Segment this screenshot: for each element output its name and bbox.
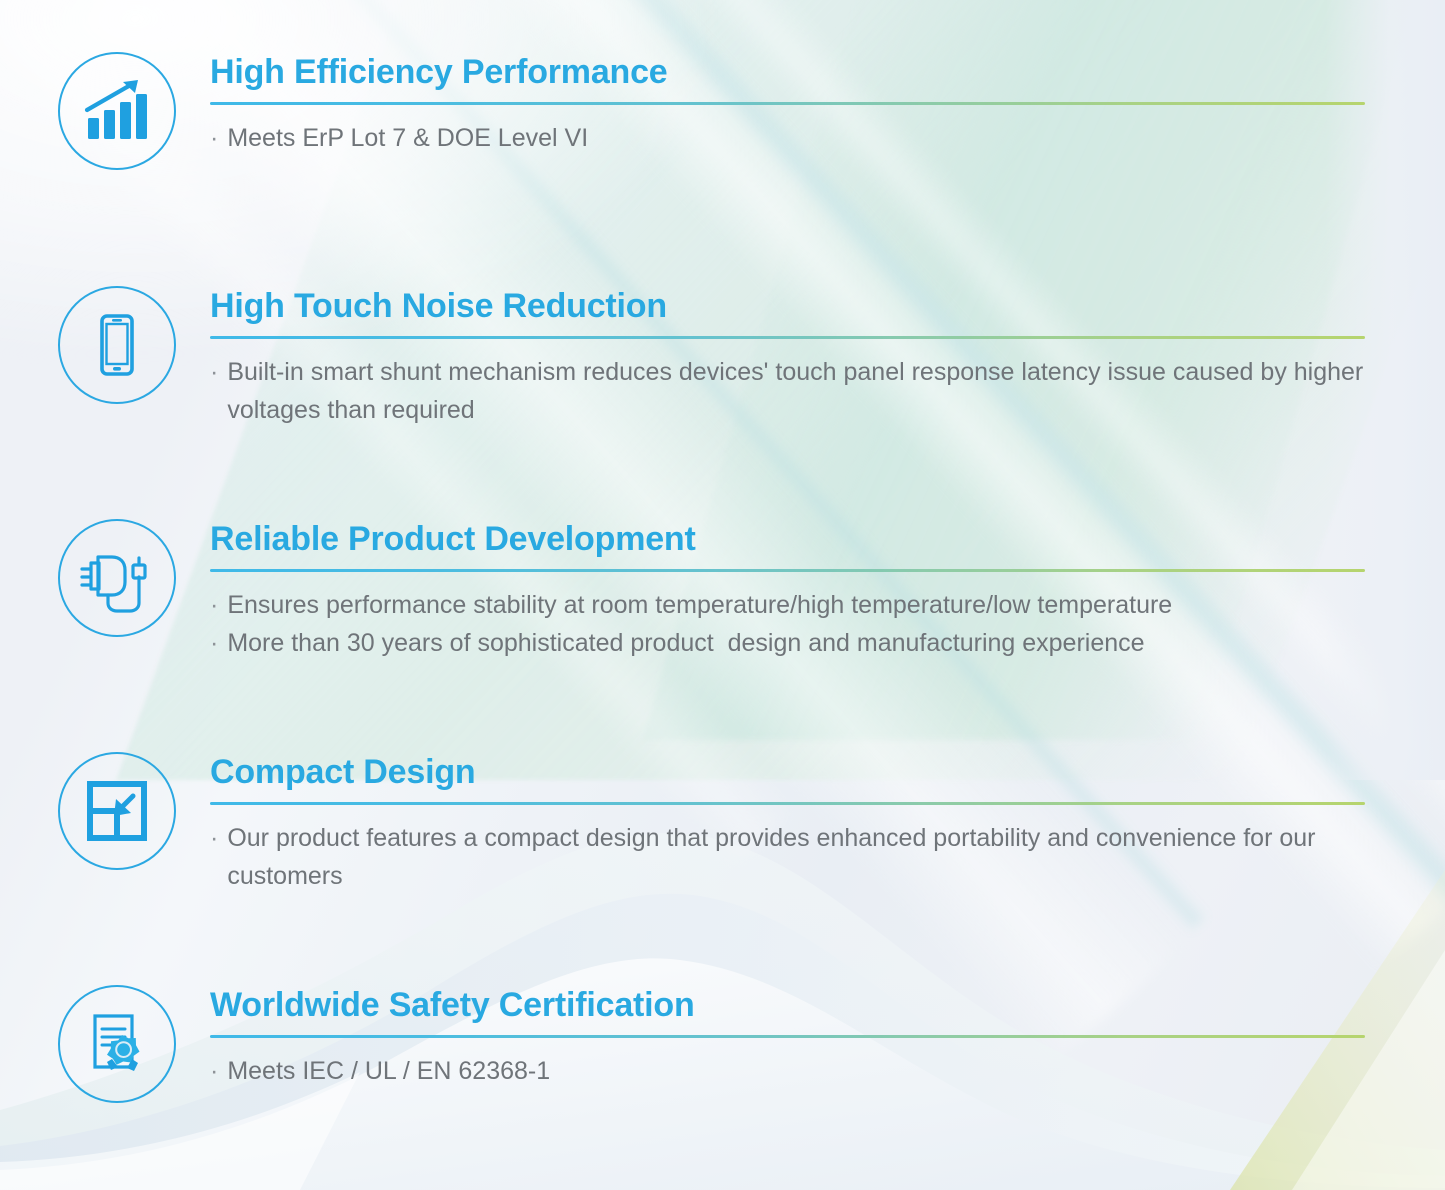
- feature-title: Reliable Product Development: [210, 519, 1370, 559]
- smartphone-icon: [58, 286, 176, 404]
- feature-title: High Efficiency Performance: [210, 52, 1370, 92]
- feature-icon-wrapper: [58, 52, 176, 170]
- feature-divider: [210, 102, 1365, 105]
- power-adapter-icon: [58, 519, 176, 637]
- certificate-seal-icon: [58, 985, 176, 1103]
- feature-icon-wrapper: [58, 286, 176, 404]
- bullet-marker: ·: [210, 119, 218, 157]
- feature-bullets: · Ensures performance stability at room …: [210, 586, 1370, 662]
- feature-title: Compact Design: [210, 752, 1370, 792]
- feature-list: High Efficiency Performance · Meets ErP …: [0, 0, 1445, 1190]
- bullet-text: Meets IEC / UL / EN 62368-1: [227, 1052, 550, 1090]
- feature-bullets: · Our product features a compact design …: [210, 819, 1370, 895]
- bullet-text: Ensures performance stability at room te…: [227, 586, 1172, 624]
- feature-divider: [210, 1035, 1365, 1038]
- feature-bullets: · Meets ErP Lot 7 & DOE Level VI: [210, 119, 1370, 157]
- feature-icon-wrapper: [58, 752, 176, 870]
- bullet-text: More than 30 years of sophisticated prod…: [227, 624, 1144, 662]
- bullet-item: · Ensures performance stability at room …: [210, 586, 1370, 624]
- bullet-item: · More than 30 years of sophisticated pr…: [210, 624, 1370, 662]
- feature-icon-wrapper: [58, 519, 176, 637]
- bullet-marker: ·: [210, 586, 218, 624]
- feature-highlights-page: High Efficiency Performance · Meets ErP …: [0, 0, 1445, 1190]
- compact-resize-icon: [58, 752, 176, 870]
- bullet-marker: ·: [210, 353, 218, 391]
- feature-icon-wrapper: [58, 985, 176, 1103]
- bullet-text: Meets ErP Lot 7 & DOE Level VI: [227, 119, 588, 157]
- feature-divider: [210, 569, 1365, 572]
- bullet-marker: ·: [210, 624, 218, 662]
- feature-content: Reliable Product Development · Ensures p…: [210, 519, 1370, 662]
- feature-content: Worldwide Safety Certification · Meets I…: [210, 985, 1370, 1090]
- feature-divider: [210, 336, 1365, 339]
- bullet-item: · Meets IEC / UL / EN 62368-1: [210, 1052, 1370, 1090]
- bullet-text: Our product features a compact design th…: [227, 819, 1370, 895]
- bullet-marker: ·: [210, 1052, 218, 1090]
- feature-bullets: · Meets IEC / UL / EN 62368-1: [210, 1052, 1370, 1090]
- feature-content: High Touch Noise Reduction · Built-in sm…: [210, 286, 1370, 429]
- feature-title: Worldwide Safety Certification: [210, 985, 1370, 1025]
- bullet-text: Built-in smart shunt mechanism reduces d…: [227, 353, 1370, 429]
- feature-content: High Efficiency Performance · Meets ErP …: [210, 52, 1370, 157]
- bullet-item: · Built-in smart shunt mechanism reduces…: [210, 353, 1370, 429]
- bullet-item: · Meets ErP Lot 7 & DOE Level VI: [210, 119, 1370, 157]
- feature-content: Compact Design · Our product features a …: [210, 752, 1370, 895]
- feature-divider: [210, 802, 1365, 805]
- bullet-item: · Our product features a compact design …: [210, 819, 1370, 895]
- bullet-marker: ·: [210, 819, 218, 857]
- feature-title: High Touch Noise Reduction: [210, 286, 1370, 326]
- feature-bullets: · Built-in smart shunt mechanism reduces…: [210, 353, 1370, 429]
- bar-chart-growth-icon: [58, 52, 176, 170]
